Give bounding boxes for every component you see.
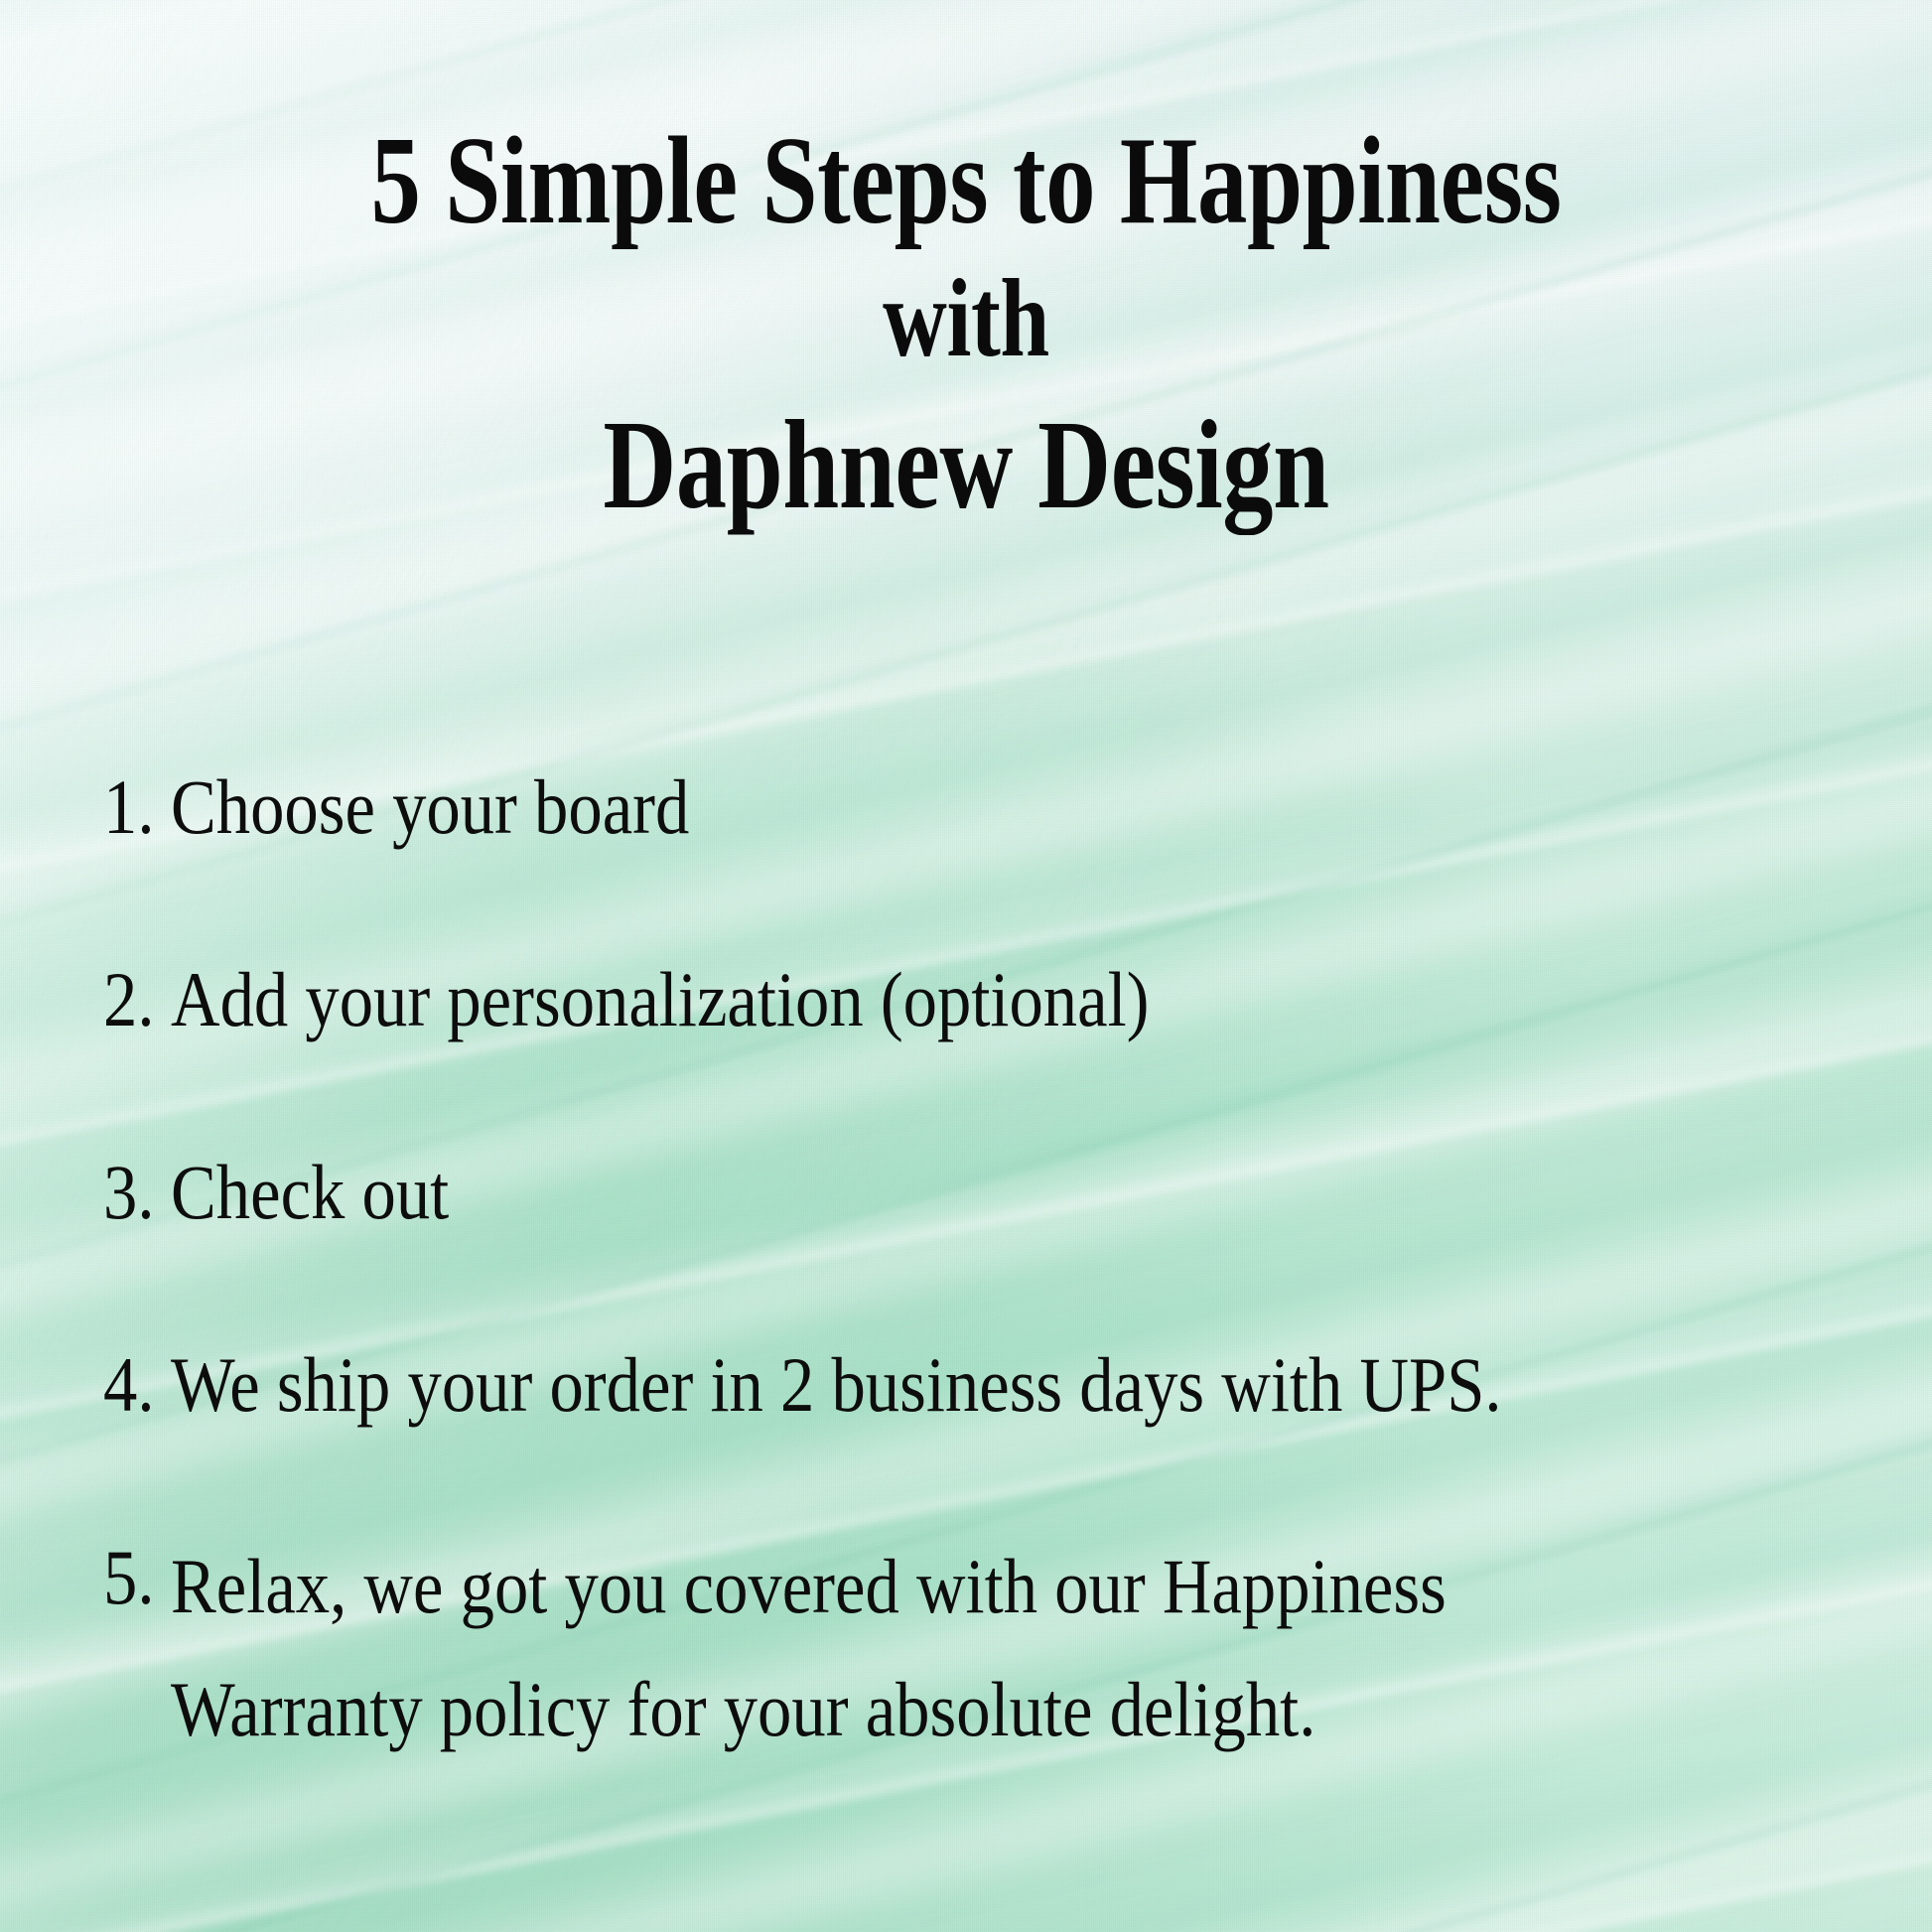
promo-graphic: 5 Simple Steps to Happiness with Daphnew…: [0, 0, 1932, 1932]
list-item: 5. Relax, we got you covered with our Ha…: [103, 1525, 1880, 1769]
heading-block: 5 Simple Steps to Happiness with Daphnew…: [0, 111, 1932, 536]
step-number: 3.: [103, 1140, 163, 1245]
list-item: 1. Choose your board: [103, 755, 1880, 860]
step-label: Choose your board: [171, 755, 1675, 860]
headline-connector: with: [194, 257, 1739, 381]
step-label: Relax, we got you covered with our Happi…: [171, 1525, 1675, 1769]
list-item: 4. We ship your order in 2 business days…: [103, 1332, 1880, 1438]
step-number: 1.: [103, 755, 163, 860]
step-label: We ship your order in 2 business days wi…: [171, 1332, 1675, 1438]
headline-primary: 5 Simple Steps to Happiness: [194, 111, 1739, 251]
steps-list: 1. Choose your board 2. Add your persona…: [103, 755, 1880, 1770]
step-number: 2.: [103, 947, 163, 1052]
step-number: 5.: [103, 1525, 163, 1630]
list-item: 2. Add your personalization (optional): [103, 947, 1880, 1052]
brand-name: Daphnew Design: [194, 394, 1739, 536]
step-label: Check out: [171, 1140, 1675, 1245]
list-item: 3. Check out: [103, 1140, 1880, 1245]
step-label: Add your personalization (optional): [171, 947, 1675, 1052]
step-number: 4.: [103, 1332, 163, 1438]
